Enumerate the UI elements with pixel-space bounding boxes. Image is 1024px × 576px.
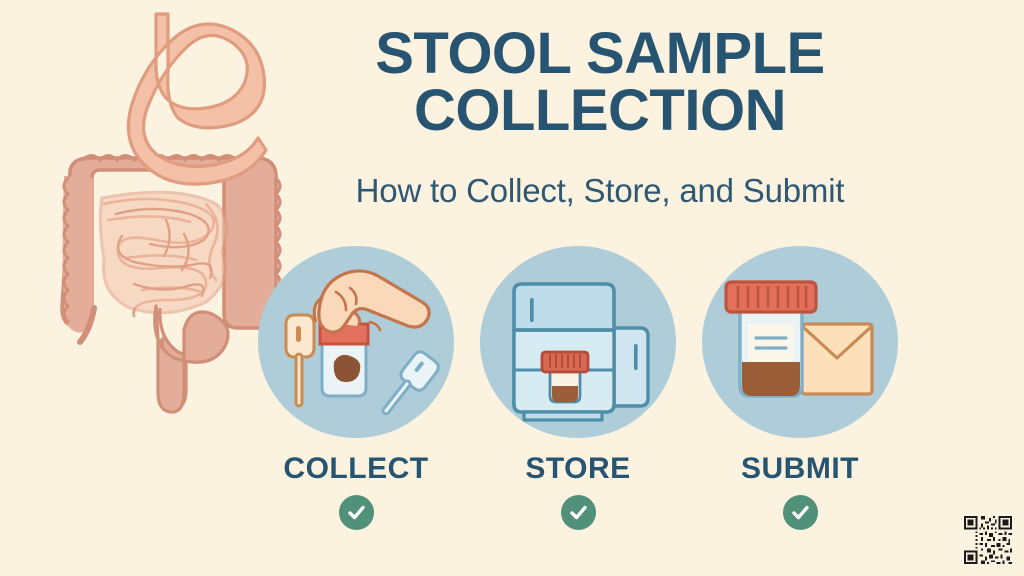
check-icon-collect xyxy=(339,495,374,530)
title-line-1: STOOL SAMPLE xyxy=(375,21,824,86)
step-label-store: STORE xyxy=(480,452,676,486)
specimen-jar-shape xyxy=(542,352,588,402)
envelope-shape xyxy=(802,324,872,394)
step-submit[interactable]: SUBMIT xyxy=(702,246,898,530)
steps-row: COLLECT xyxy=(258,246,918,546)
step-label-collect: COLLECT xyxy=(258,452,454,486)
check-icon-store xyxy=(561,495,596,530)
title-line-2: COLLECTION xyxy=(300,83,900,140)
collection-container-shape xyxy=(322,344,366,396)
infographic-canvas: STOOL SAMPLE COLLECTION How to Collect, … xyxy=(0,0,1024,576)
store-icon xyxy=(480,246,676,438)
wooden-spatula-shape xyxy=(286,315,314,406)
specimen-jar-shape xyxy=(726,282,816,396)
collect-icon xyxy=(258,246,454,438)
step-label-submit: SUBMIT xyxy=(702,452,898,486)
submit-icon xyxy=(702,246,898,438)
plastic-scoop-shape xyxy=(375,349,441,423)
step-store[interactable]: STORE xyxy=(480,246,676,530)
check-icon-submit xyxy=(783,495,818,530)
step-collect[interactable]: COLLECT xyxy=(258,246,454,530)
hand-shape xyxy=(314,271,429,332)
page-subtitle: How to Collect, Store, and Submit xyxy=(300,172,900,210)
qr-code-icon[interactable] xyxy=(960,512,1016,568)
page-title: STOOL SAMPLE COLLECTION xyxy=(300,26,900,140)
